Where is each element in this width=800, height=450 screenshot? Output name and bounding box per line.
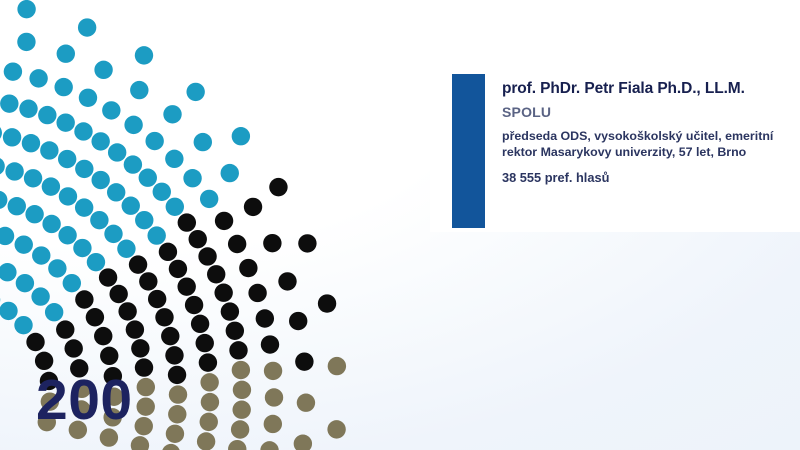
parliament-seat — [126, 320, 144, 338]
parliament-seat — [248, 284, 266, 302]
parliament-seat — [15, 235, 33, 253]
parliament-seat — [228, 235, 246, 253]
parliament-seat — [99, 268, 117, 286]
parliament-seat — [298, 234, 316, 252]
parliament-seat — [0, 124, 2, 142]
parliament-seat — [38, 106, 56, 124]
parliament-seat — [165, 150, 183, 168]
parliament-seat — [328, 357, 346, 375]
parliament-seat — [232, 401, 250, 419]
parliament-seat — [196, 334, 214, 352]
parliament-seat — [0, 94, 18, 112]
parliament-seat — [185, 296, 203, 314]
parliament-seat — [201, 393, 219, 411]
parliament-seat — [221, 302, 239, 320]
parliament-seat — [48, 259, 66, 277]
parliament-seat — [8, 197, 26, 215]
parliament-seat — [87, 253, 105, 271]
parliament-seat — [221, 164, 239, 182]
parliament-seat — [135, 358, 153, 376]
parliament-seat — [29, 69, 47, 87]
parliament-seat — [75, 198, 93, 216]
parliament-seat — [22, 134, 40, 152]
parliament-seat — [109, 285, 127, 303]
parliament-seat — [318, 294, 336, 312]
parliament-seat — [54, 78, 72, 96]
parliament-seat — [135, 211, 153, 229]
parliament-seat — [100, 347, 118, 365]
parliament-seat — [199, 353, 217, 371]
candidate-name: prof. PhDr. Petr Fiala Ph.D., LL.M. — [502, 80, 792, 98]
parliament-seat — [14, 316, 32, 334]
parliament-seat — [135, 46, 153, 64]
parliament-seat — [169, 385, 187, 403]
parliament-seat — [131, 436, 149, 450]
parliament-seat — [289, 312, 307, 330]
parliament-seat — [278, 272, 296, 290]
parliament-seat — [91, 171, 109, 189]
parliament-seat — [124, 116, 142, 134]
parliament-seat — [5, 162, 23, 180]
parliament-seat — [215, 212, 233, 230]
parliament-seat — [194, 133, 212, 151]
parliament-seat — [186, 83, 204, 101]
parliament-seat — [74, 122, 92, 140]
parliament-seat — [197, 432, 215, 450]
parliament-seat — [122, 197, 140, 215]
parliament-seat — [166, 198, 184, 216]
parliament-seat — [131, 339, 149, 357]
parliament-seat — [118, 302, 136, 320]
parliament-seat — [265, 388, 283, 406]
parliament-seat — [31, 287, 49, 305]
parliament-seat — [232, 127, 250, 145]
parliament-seat — [45, 303, 63, 321]
parliament-seat — [75, 160, 93, 178]
parliament-seat — [124, 155, 142, 173]
parliament-seat — [145, 132, 163, 150]
parliament-seat — [42, 177, 60, 195]
parliament-seat — [75, 290, 93, 308]
parliament-seat — [90, 211, 108, 229]
parliament-seat — [263, 234, 281, 252]
candidate-info-card: prof. PhDr. Petr Fiala Ph.D., LL.M. SPOL… — [430, 56, 800, 232]
parliament-seat — [165, 346, 183, 364]
candidate-party-label: SPOLU — [502, 104, 792, 120]
parliament-seat — [239, 259, 257, 277]
parliament-seat — [260, 441, 278, 450]
parliament-seat — [327, 420, 345, 438]
parliament-seat — [264, 362, 282, 380]
parliament-seat — [226, 322, 244, 340]
parliament-seat — [107, 183, 125, 201]
parliament-seat — [233, 381, 251, 399]
parliament-seat — [104, 225, 122, 243]
parliament-seat — [168, 405, 186, 423]
parliament-seat — [244, 198, 262, 216]
parliament-seat — [17, 33, 35, 51]
parliament-seat — [0, 227, 14, 245]
parliament-seat — [297, 394, 315, 412]
parliament-seat — [207, 265, 225, 283]
parliament-seat — [0, 157, 5, 175]
parliament-seat — [264, 415, 282, 433]
parliament-seat — [58, 150, 76, 168]
parliament-seat — [200, 373, 218, 391]
parliament-seat — [91, 132, 109, 150]
parliament-seat — [117, 240, 135, 258]
parliament-seat — [155, 308, 173, 326]
parliament-seat — [231, 420, 249, 438]
parliament-seat — [19, 100, 37, 118]
parliament-seat — [40, 141, 58, 159]
candidate-text-block: prof. PhDr. Petr Fiala Ph.D., LL.M. SPOL… — [502, 80, 800, 185]
parliament-seat — [163, 105, 181, 123]
parliament-seat — [94, 61, 112, 79]
parliament-seat — [129, 255, 147, 273]
parliament-seat — [135, 417, 153, 435]
parliament-seat — [26, 333, 44, 351]
parliament-seat — [177, 277, 195, 295]
parliament-seat — [58, 226, 76, 244]
parliament-seat — [56, 113, 74, 131]
parliament-seat — [295, 352, 313, 370]
parliament-seat — [261, 335, 279, 353]
parliament-seat — [198, 247, 216, 265]
parliament-seat — [63, 274, 81, 292]
parliament-seat — [24, 169, 42, 187]
parliament-seat — [191, 315, 209, 333]
parliament-seat — [139, 272, 157, 290]
seat-total-number: 200 — [36, 372, 133, 429]
parliament-seat — [73, 239, 91, 257]
parliament-seat — [64, 339, 82, 357]
parliament-seat — [228, 440, 246, 450]
parliament-seat — [166, 425, 184, 443]
parliament-seat — [183, 169, 201, 187]
parliament-seat — [42, 215, 60, 233]
parliament-seat — [32, 246, 50, 264]
parliament-seat — [0, 191, 7, 209]
parliament-seat — [178, 213, 196, 231]
parliament-seat — [137, 378, 155, 396]
parliament-seat — [4, 62, 22, 80]
parliament-seat — [269, 178, 287, 196]
parliament-seat — [0, 263, 17, 281]
parliament-seat — [169, 260, 187, 278]
parliament-seat — [94, 327, 112, 345]
parliament-seat — [78, 18, 96, 36]
parliament-seat — [256, 309, 274, 327]
parliament-seat — [229, 341, 247, 359]
parliament-seat — [232, 361, 250, 379]
preference-votes: 38 555 pref. hlasů — [502, 170, 792, 185]
parliament-seat — [3, 128, 21, 146]
parliament-seat — [56, 320, 74, 338]
parliament-seat — [86, 308, 104, 326]
parliament-seat — [59, 187, 77, 205]
parliament-seat — [148, 290, 166, 308]
parliament-seat — [147, 226, 165, 244]
parliament-seat — [139, 169, 157, 187]
parliament-seat — [137, 397, 155, 415]
parliament-seat — [162, 444, 180, 450]
parliament-seat — [294, 435, 312, 450]
parliament-seat — [102, 101, 120, 119]
parliament-seat — [200, 413, 218, 431]
parliament-seat — [108, 143, 126, 161]
parliament-seat — [57, 45, 75, 63]
parliament-seat — [17, 0, 35, 18]
parliament-seat — [153, 183, 171, 201]
parliament-seat — [168, 366, 186, 384]
parliament-seat — [25, 205, 43, 223]
parliament-seat — [159, 243, 177, 261]
parliament-seat — [214, 284, 232, 302]
party-color-bar — [452, 74, 485, 228]
parliament-seat — [161, 327, 179, 345]
parliament-seat — [200, 190, 218, 208]
parliament-seat — [0, 302, 18, 320]
parliament-seat — [16, 274, 34, 292]
parliament-seat — [79, 89, 97, 107]
parliament-seat — [189, 230, 207, 248]
parliament-seat — [130, 81, 148, 99]
candidate-description: předseda ODS, vysokoškolský učitel, emer… — [502, 128, 792, 161]
